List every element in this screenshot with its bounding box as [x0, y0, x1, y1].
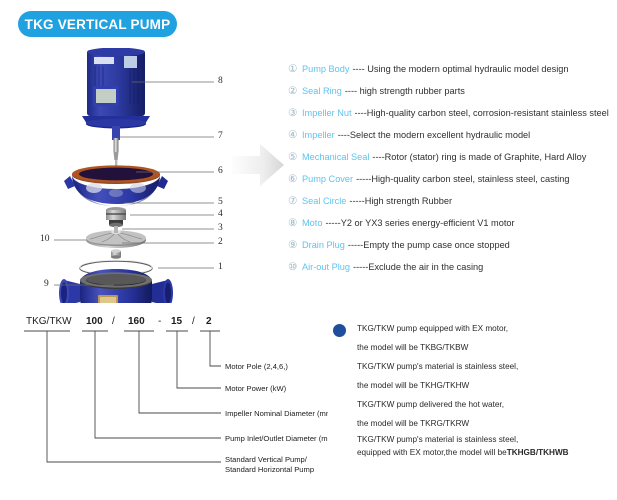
- legend-item-10: ⑩ Air-out Plug -----Exclude the air in t…: [288, 256, 613, 278]
- legend-description-6: -----High-quality carbon steel, stainles…: [356, 174, 569, 184]
- legend-part-name-9: Drain Plug: [302, 240, 345, 250]
- note-line-1: TKG/TKW pump equipped with EX motor,: [357, 320, 613, 339]
- leader-label-standard-1: Standard Vertical Pump/: [225, 455, 308, 464]
- parts-legend-list: ① Pump Body ---- Using the modern optima…: [288, 58, 613, 278]
- note-line-4: the model will be TKHG/TKHW: [357, 377, 613, 396]
- legend-number-10: ⑩: [288, 262, 302, 273]
- legend-number-9: ⑨: [288, 240, 302, 251]
- code-token-series: TKG/TKW: [26, 316, 72, 327]
- legend-part-name-7: Seal Circle: [302, 196, 346, 206]
- legend-number-3: ③: [288, 108, 302, 119]
- callout-number-3: 3: [218, 224, 223, 234]
- bullet-dot-icon: [333, 324, 346, 337]
- model-designation-diagram: TKG/TKW 100 / 160 - 15 / 2: [8, 310, 328, 495]
- code-token-pole: 2: [206, 316, 212, 327]
- model-variant-notes: TKG/TKW pump equipped with EX motor, the…: [333, 320, 613, 460]
- legend-item-1: ① Pump Body ---- Using the modern optima…: [288, 58, 613, 80]
- callout-number-9: 9: [44, 280, 49, 290]
- legend-item-4: ④ Impeller ----Select the modern excelle…: [288, 124, 613, 146]
- page-title-banner: TKG VERTICAL PUMP: [18, 11, 177, 37]
- leader-label-motor-pole: Motor Pole (2,4,6,): [225, 362, 288, 371]
- legend-number-2: ②: [288, 86, 302, 97]
- leader-label-motor-power: Motor Power (kW): [225, 384, 287, 393]
- code-token-sep-3: /: [192, 316, 195, 327]
- code-token-impeller: 160: [128, 316, 145, 327]
- callout-number-7: 7: [218, 132, 223, 142]
- note-line-2: the model will be TKBG/TKBW: [357, 339, 613, 358]
- leader-label-standard-2: Standard Horizontal Pump: [225, 465, 314, 474]
- legend-description-8: -----Y2 or YX3 series energy-efficient V…: [325, 218, 514, 228]
- note-line-6: the model will be TKRG/TKRW: [357, 415, 613, 434]
- legend-item-3: ③ Impeller Nut ----High-quality carbon s…: [288, 102, 613, 124]
- legend-description-10: -----Exclude the air in the casing: [353, 262, 483, 272]
- callout-number-1: 1: [218, 263, 223, 273]
- part-impeller-nut: [111, 249, 121, 259]
- page-title: TKG VERTICAL PUMP: [25, 17, 171, 32]
- legend-item-8: ⑧ Moto -----Y2 or YX3 series energy-effi…: [288, 212, 613, 234]
- legend-description-4: ----Select the modern excellent hydrauli…: [338, 130, 531, 140]
- legend-part-name-2: Seal Ring: [302, 86, 342, 96]
- legend-number-5: ⑤: [288, 152, 302, 163]
- legend-description-7: -----High strength Rubber: [349, 196, 452, 206]
- legend-number-4: ④: [288, 130, 302, 141]
- note-line-8: equipped with EX motor,the model will be…: [357, 447, 613, 460]
- legend-part-name-5: Mechanical Seal: [302, 152, 369, 162]
- legend-part-name-3: Impeller Nut: [302, 108, 352, 118]
- note-line-3: TKG/TKW pump's material is stainless ste…: [357, 358, 613, 377]
- legend-item-9: ⑨ Drain Plug -----Empty the pump case on…: [288, 234, 613, 256]
- legend-description-2: ---- high strength rubber parts: [345, 86, 465, 96]
- leader-label-impeller-dia: Impeller Nominal Diameter (mm): [225, 409, 328, 418]
- exploded-pump-diagram: 8 7 6 5 4 3 2 1 10 9: [18, 48, 248, 303]
- legend-number-8: ⑧: [288, 218, 302, 229]
- legend-part-name-8: Moto: [302, 218, 322, 228]
- callout-number-10: 10: [40, 235, 50, 245]
- part-pump-body: [59, 269, 173, 303]
- note-line-5: TKG/TKW pump delivered the hot water,: [357, 396, 613, 415]
- code-token-inlet: 100: [86, 316, 103, 327]
- callout-number-5: 5: [218, 198, 223, 208]
- note-line-7: TKG/TKW pump's material is stainless ste…: [357, 434, 613, 447]
- part-mechanical-seal: [106, 207, 126, 227]
- legend-number-1: ①: [288, 64, 302, 75]
- legend-description-5: ----Rotor (stator) ring is made of Graph…: [372, 152, 586, 162]
- legend-item-2: ② Seal Ring ---- high strength rubber pa…: [288, 80, 613, 102]
- callout-number-6: 6: [218, 167, 223, 177]
- legend-number-6: ⑥: [288, 174, 302, 185]
- legend-description-9: -----Empty the pump case once stopped: [348, 240, 510, 250]
- part-motor: [82, 48, 150, 129]
- legend-item-6: ⑥ Pump Cover -----High-quality carbon st…: [288, 168, 613, 190]
- code-leader-lines: [47, 331, 221, 462]
- callout-number-2: 2: [218, 238, 223, 248]
- callout-number-4: 4: [218, 210, 223, 220]
- leader-label-inlet-dia: Pump Inlet/Outlet Diameter (mm): [225, 434, 328, 443]
- legend-part-name-10: Air-out Plug: [302, 262, 350, 272]
- legend-number-7: ⑦: [288, 196, 302, 207]
- right-arrow-icon: [232, 140, 284, 190]
- code-token-sep-2: -: [158, 316, 161, 327]
- callout-number-8: 8: [218, 77, 223, 87]
- legend-description-1: ---- Using the modern optimal hydraulic …: [353, 64, 569, 74]
- note-line-8-model: TKHGB/TKHWB: [507, 449, 569, 457]
- legend-item-7: ⑦ Seal Circle -----High strength Rubber: [288, 190, 613, 212]
- legend-part-name-4: Impeller: [302, 130, 335, 140]
- part-pump-cover: [64, 165, 168, 206]
- part-shaft: [112, 126, 120, 170]
- code-token-sep-1: /: [112, 316, 115, 327]
- code-token-power: 15: [171, 316, 183, 327]
- legend-part-name-1: Pump Body: [302, 64, 350, 74]
- legend-description-3: ----High-quality carbon steel, corrosion…: [355, 108, 609, 118]
- legend-item-5: ⑤ Mechanical Seal ----Rotor (stator) rin…: [288, 146, 613, 168]
- legend-part-name-6: Pump Cover: [302, 174, 353, 184]
- note-line-8-text: equipped with EX motor,the model will be: [357, 449, 507, 457]
